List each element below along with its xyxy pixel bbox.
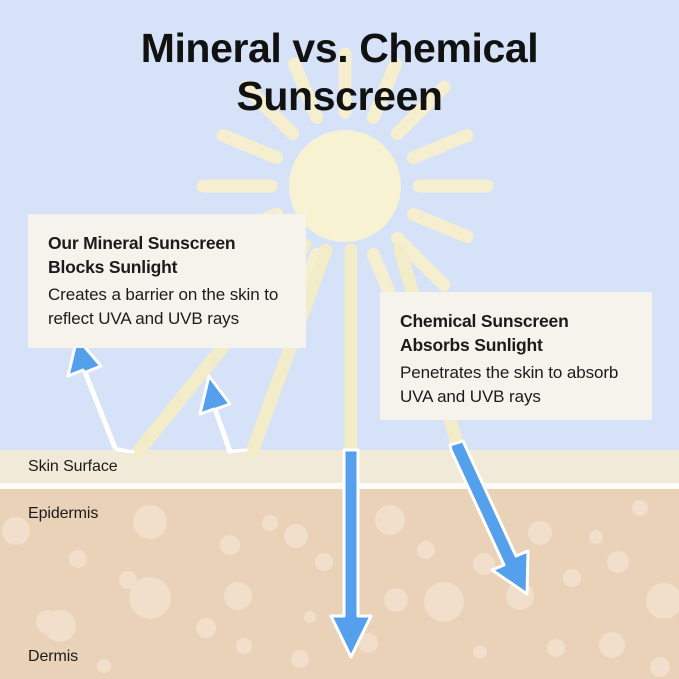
callout-mineral-sunscreen: Our Mineral Sunscreen Blocks Sunlight Cr… xyxy=(28,214,306,348)
layer-label-skin-surface: Skin Surface xyxy=(28,458,118,476)
skin-surface-divider xyxy=(0,483,679,489)
layer-label-dermis: Dermis xyxy=(28,648,78,666)
callout-chemical-sunscreen: Chemical Sunscreen Absorbs Sunlight Pene… xyxy=(380,292,652,420)
sunscreen-infographic: Mineral vs. Chemical Sunscreen Our Miner… xyxy=(0,0,679,679)
epidermis-band xyxy=(0,489,679,584)
callout-chemical-heading: Chemical Sunscreen Absorbs Sunlight xyxy=(400,310,632,357)
callout-chemical-body: Penetrates the skin to absorb UVA and UV… xyxy=(400,361,632,408)
callout-mineral-heading: Our Mineral Sunscreen Blocks Sunlight xyxy=(48,232,286,279)
layer-label-epidermis: Epidermis xyxy=(28,505,98,523)
callout-mineral-body: Creates a barrier on the skin to reflect… xyxy=(48,283,286,330)
